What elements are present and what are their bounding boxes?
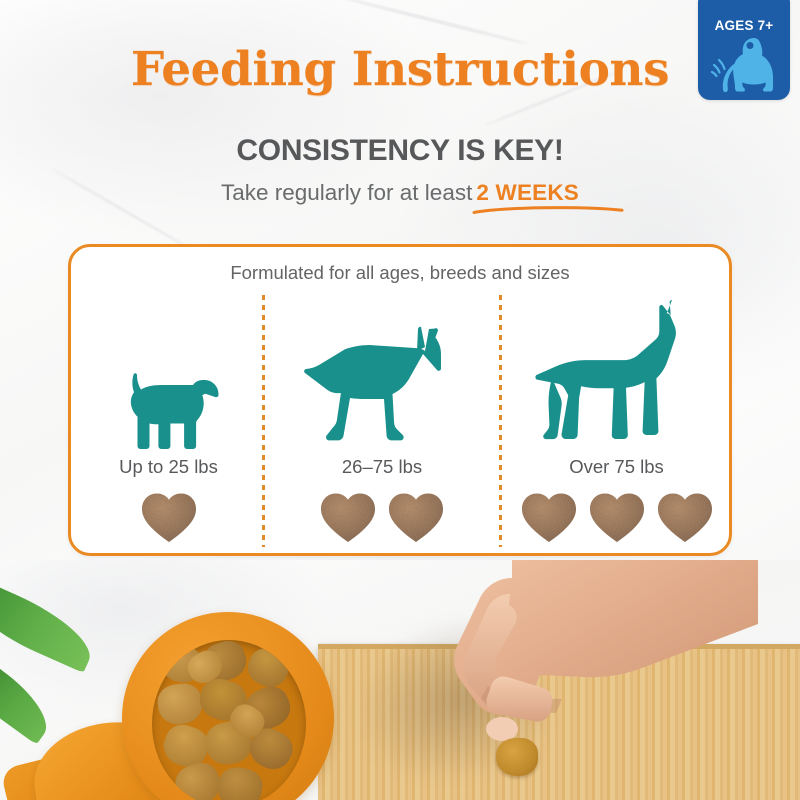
large-dog-icon bbox=[526, 298, 708, 453]
underline-scribble-icon bbox=[472, 204, 624, 215]
size-label-small: Up to 25 lbs bbox=[75, 456, 262, 478]
tagline-highlight: 2 WEEKS bbox=[476, 180, 579, 205]
marble-vein bbox=[333, 0, 528, 45]
medium-dog-wrap bbox=[265, 291, 499, 453]
bowl-interior bbox=[152, 640, 306, 800]
medium-dog-icon bbox=[298, 321, 466, 453]
held-kibble bbox=[496, 738, 538, 776]
kibble-row-medium bbox=[265, 488, 499, 546]
kibble-heart-icon bbox=[139, 488, 199, 546]
size-column-medium: 26–75 lbs bbox=[265, 291, 499, 549]
size-column-large: Over 75 lbs bbox=[502, 291, 731, 549]
kibble-heart-icon bbox=[519, 488, 579, 546]
small-dog-wrap bbox=[75, 291, 262, 453]
tagline: Take regularly for at least2 WEEKS bbox=[0, 180, 800, 206]
subtitle: CONSISTENCY IS KEY! bbox=[0, 134, 800, 168]
product-photo bbox=[0, 560, 800, 800]
kibble-heart-icon bbox=[655, 488, 715, 546]
page-title: Feeding Instructions bbox=[0, 42, 800, 97]
kibble-heart-icon bbox=[587, 488, 647, 546]
hand-holding-kibble bbox=[392, 560, 800, 800]
poster-canvas: AGES 7+ Feeding Instructions CONSISTENCY… bbox=[0, 0, 800, 800]
size-label-medium: 26–75 lbs bbox=[265, 456, 499, 478]
card-heading: Formulated for all ages, breeds and size… bbox=[71, 262, 729, 284]
tagline-highlight-wrap: 2 WEEKS bbox=[476, 180, 579, 206]
kibble-heart-icon bbox=[318, 488, 378, 546]
size-column-small: Up to 25 lbs bbox=[75, 291, 262, 549]
size-label-large: Over 75 lbs bbox=[502, 456, 731, 478]
kibble-row-small bbox=[75, 488, 262, 546]
small-dog-icon bbox=[107, 361, 231, 453]
orange-dog-bowl bbox=[122, 612, 334, 800]
tagline-prefix: Take regularly for at least bbox=[221, 180, 472, 205]
bowl-kibble bbox=[155, 681, 204, 727]
ages-badge-label: AGES 7+ bbox=[698, 18, 790, 33]
large-dog-wrap bbox=[502, 291, 731, 453]
feeding-card: Formulated for all ages, breeds and size… bbox=[68, 244, 732, 556]
bowl-kibble bbox=[215, 764, 265, 800]
kibble-row-large bbox=[502, 488, 731, 546]
kibble-heart-icon bbox=[386, 488, 446, 546]
